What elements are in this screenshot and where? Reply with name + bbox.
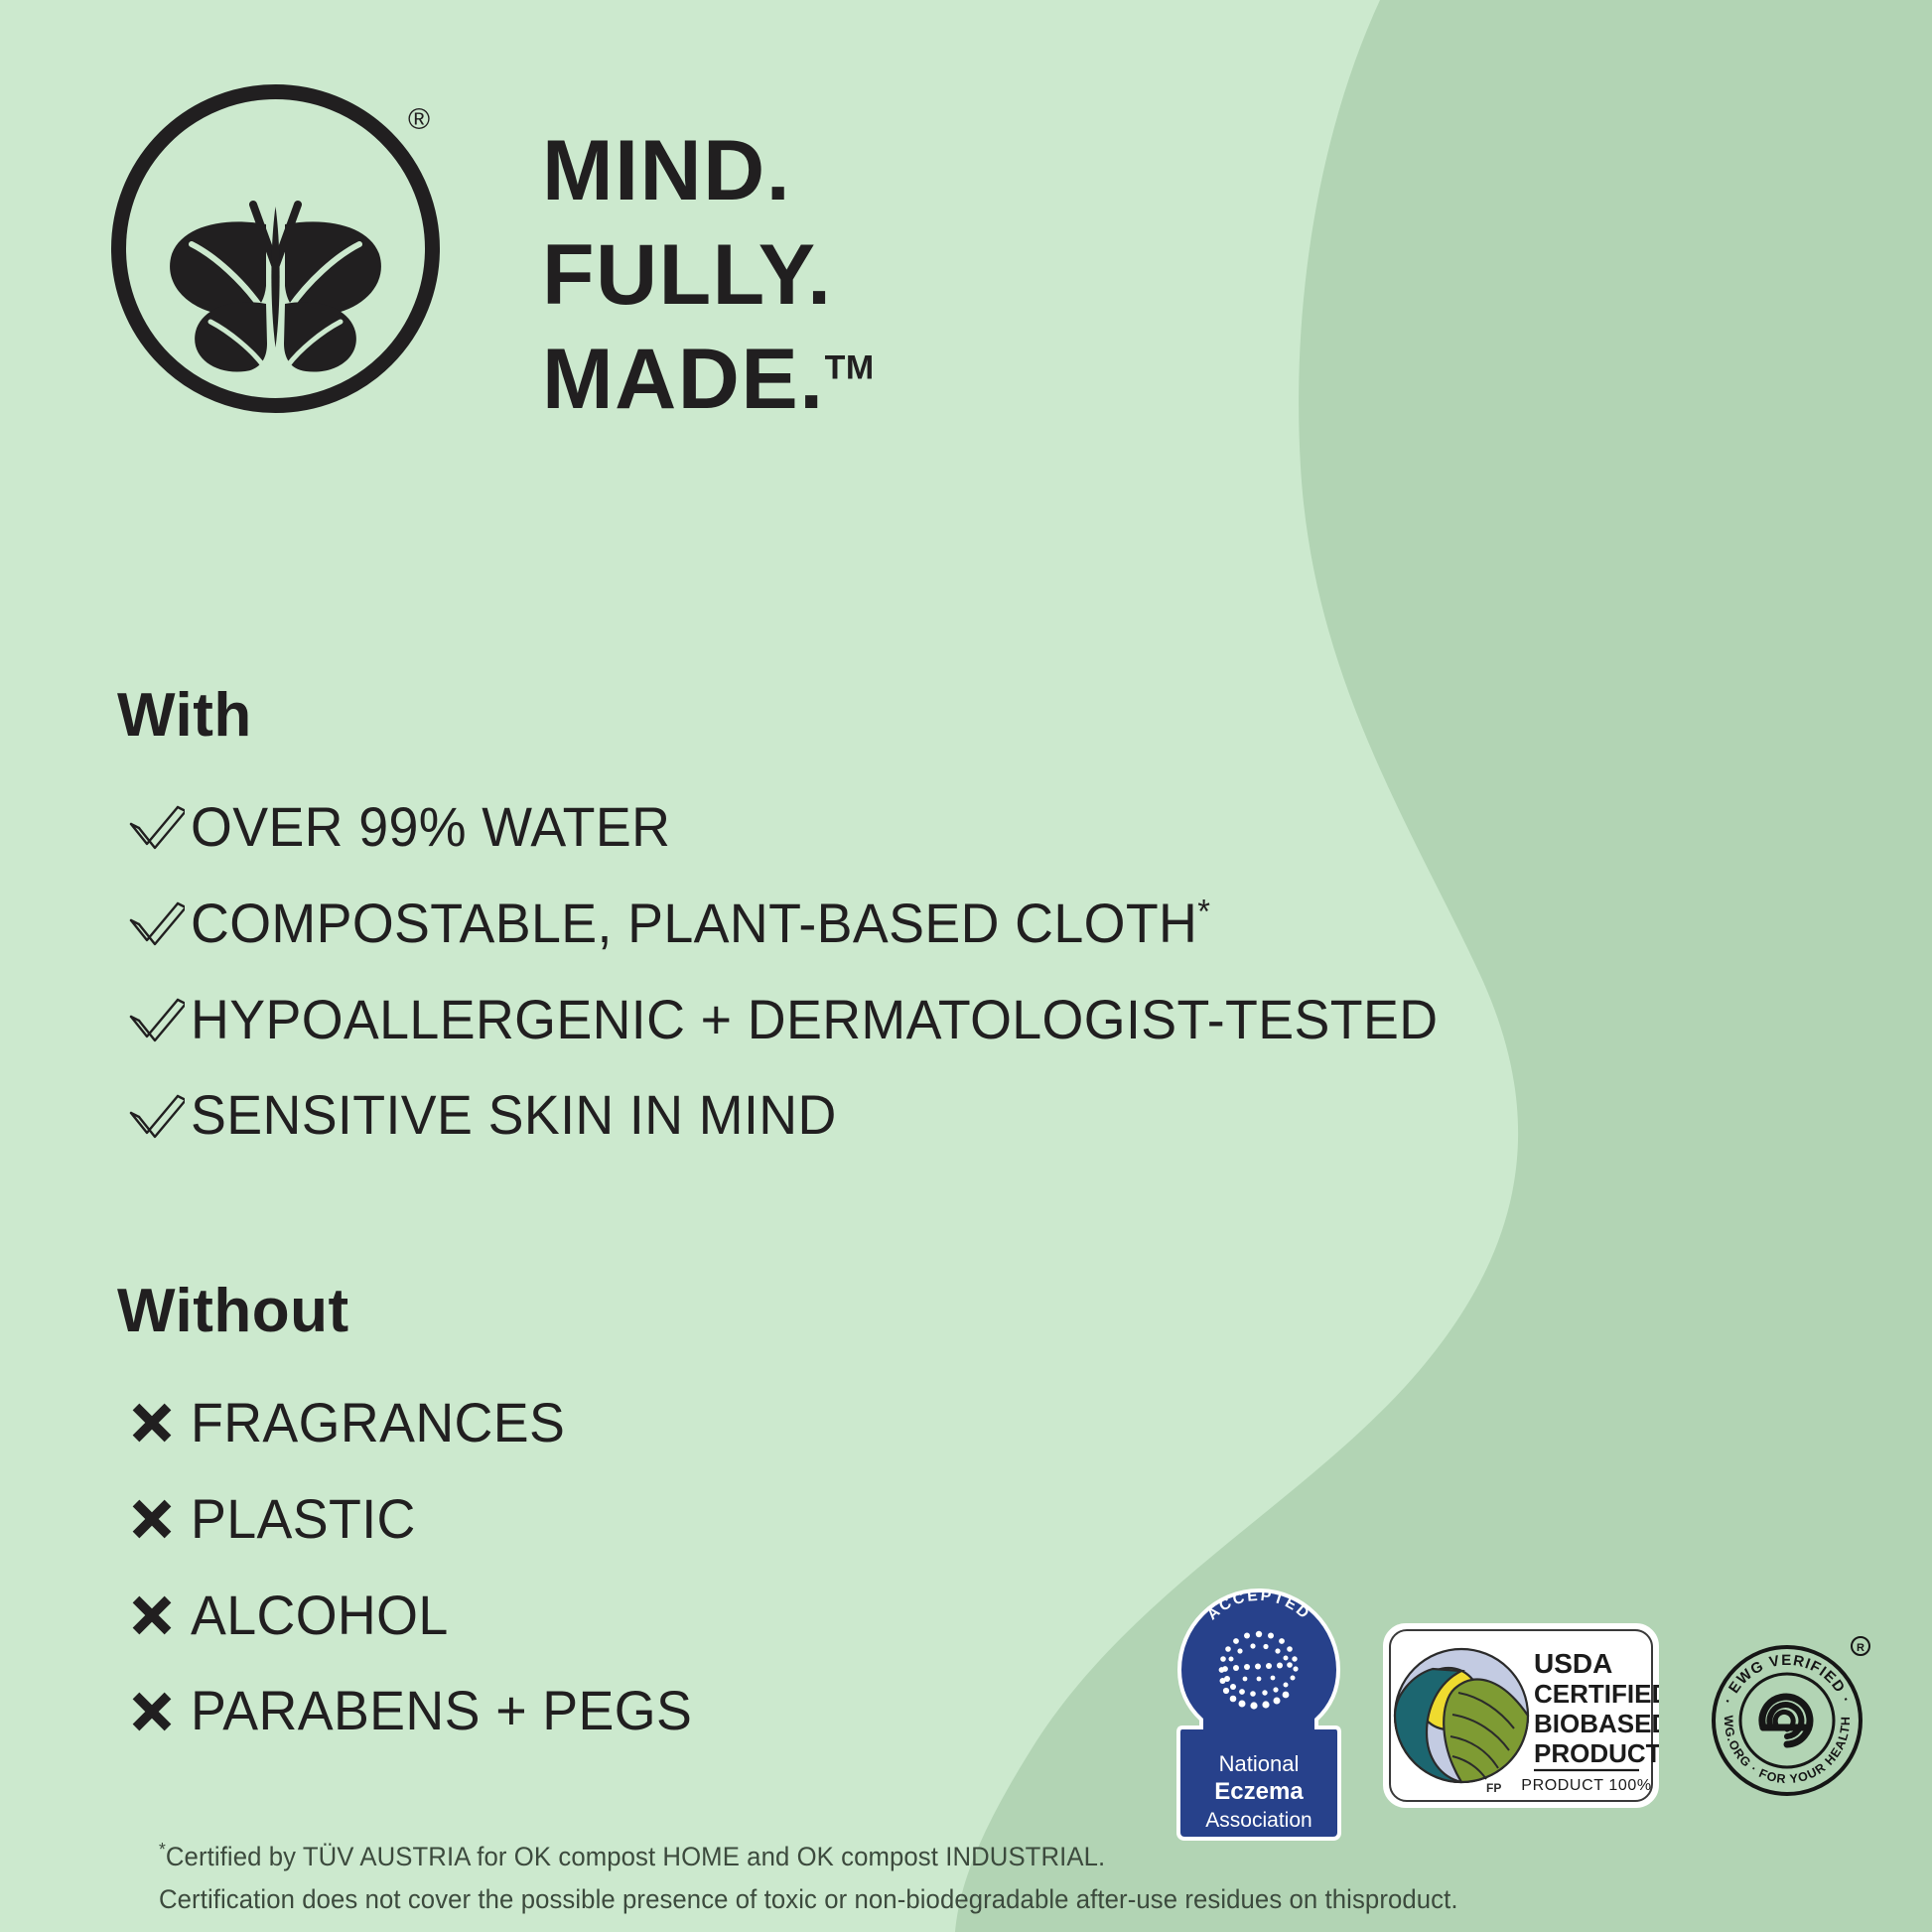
list-item: PARABENS + PEGS — [117, 1682, 713, 1740]
list-item-label: OVER 99% WATER — [191, 798, 670, 857]
check-icon — [129, 900, 191, 946]
butterfly-leaf-logo-icon: ® — [104, 77, 447, 420]
list-item-label: FRAGRANCES — [191, 1394, 565, 1452]
svg-text:FP: FP — [1486, 1781, 1501, 1795]
cross-icon — [129, 1592, 191, 1638]
svg-text:PRODUCT: PRODUCT — [1534, 1738, 1659, 1768]
with-section-title: With — [117, 685, 1490, 747]
certification-badges: ACCEPTED National Eczema Association — [1176, 1588, 1874, 1843]
list-item-label: ALCOHOL — [191, 1587, 449, 1645]
footnote-line-1-text: Certified by TÜV AUSTRIA for OK compost … — [166, 1842, 1105, 1871]
svg-text:USDA: USDA — [1534, 1648, 1612, 1679]
svg-text:Eczema: Eczema — [1214, 1778, 1304, 1805]
check-icon — [129, 997, 191, 1042]
cross-icon — [129, 1496, 191, 1542]
svg-text:Association: Association — [1205, 1809, 1311, 1832]
brand-line-2: FULLY. — [542, 223, 875, 328]
list-item-label: PARABENS + PEGS — [191, 1682, 692, 1740]
brand-line-1: MIND. — [542, 119, 875, 223]
list-item: FRAGRANCES — [117, 1394, 713, 1452]
footnote-line-1: *Certified by TÜV AUSTRIA for OK compost… — [159, 1836, 1458, 1878]
list-item: SENSITIVE SKIN IN MIND — [117, 1086, 1490, 1145]
list-item-label: SENSITIVE SKIN IN MIND — [191, 1086, 837, 1145]
check-icon — [129, 1093, 191, 1139]
list-item: COMPOSTABLE, PLANT-BASED CLOTH* — [117, 895, 1490, 953]
with-section: With OVER 99% WATER — [117, 685, 1490, 1145]
product-claims-infographic: ® MIND. FULLY. MADE.TM With OVER 99% WA — [0, 0, 1932, 1932]
list-item: ALCOHOL — [117, 1587, 713, 1645]
cross-icon — [129, 1400, 191, 1446]
brand-line-3: MADE. — [542, 332, 825, 427]
svg-text:PRODUCT 100%: PRODUCT 100% — [1521, 1777, 1651, 1794]
without-section-title: Without — [117, 1281, 713, 1342]
brand-wordmark: MIND. FULLY. MADE.TM — [542, 119, 875, 432]
ewg-verified-badge: · EWG VERIFIED · EWG.ORG · FOR YOUR HEAL… — [1701, 1629, 1874, 1803]
footnote-marker: * — [1197, 893, 1210, 930]
list-item-text: COMPOSTABLE, PLANT-BASED CLOTH — [191, 892, 1197, 954]
list-item-label: COMPOSTABLE, PLANT-BASED CLOTH* — [191, 895, 1210, 953]
with-feature-list: OVER 99% WATER COMPOSTABLE, PLANT-BASED … — [117, 798, 1490, 1145]
list-item: PLASTIC — [117, 1490, 713, 1549]
svg-text:R: R — [1857, 1642, 1864, 1654]
list-item-label: HYPOALLERGENIC + DERMATOLOGIST-TESTED — [191, 991, 1438, 1049]
footnote: *Certified by TÜV AUSTRIA for OK compost… — [159, 1836, 1458, 1921]
trademark-symbol: TM — [825, 348, 875, 386]
list-item: OVER 99% WATER — [117, 798, 1490, 857]
national-eczema-association-badge: ACCEPTED National Eczema Association — [1176, 1588, 1341, 1843]
list-item: HYPOALLERGENIC + DERMATOLOGIST-TESTED — [117, 991, 1490, 1049]
usda-certified-biobased-product-badge: FP USDA CERTIFIED BIOBASED PRODUCT PRODU… — [1383, 1623, 1659, 1808]
registered-trademark-symbol: ® — [408, 105, 430, 135]
brand-logo-block: ® MIND. FULLY. MADE.TM — [104, 77, 875, 432]
without-feature-list: FRAGRANCES PLASTIC ALCOHOL — [117, 1394, 713, 1740]
check-icon — [129, 804, 191, 850]
without-section: Without FRAGRANCES PLASTIC — [117, 1281, 713, 1740]
svg-text:CERTIFIED: CERTIFIED — [1534, 1679, 1659, 1709]
svg-text:National: National — [1219, 1751, 1300, 1776]
svg-text:BIOBASED: BIOBASED — [1534, 1709, 1659, 1738]
cross-icon — [129, 1689, 191, 1734]
brand-line-3-row: MADE.TM — [542, 328, 875, 432]
list-item-label: PLASTIC — [191, 1490, 416, 1549]
footnote-line-2: Certification does not cover the possibl… — [159, 1878, 1458, 1921]
